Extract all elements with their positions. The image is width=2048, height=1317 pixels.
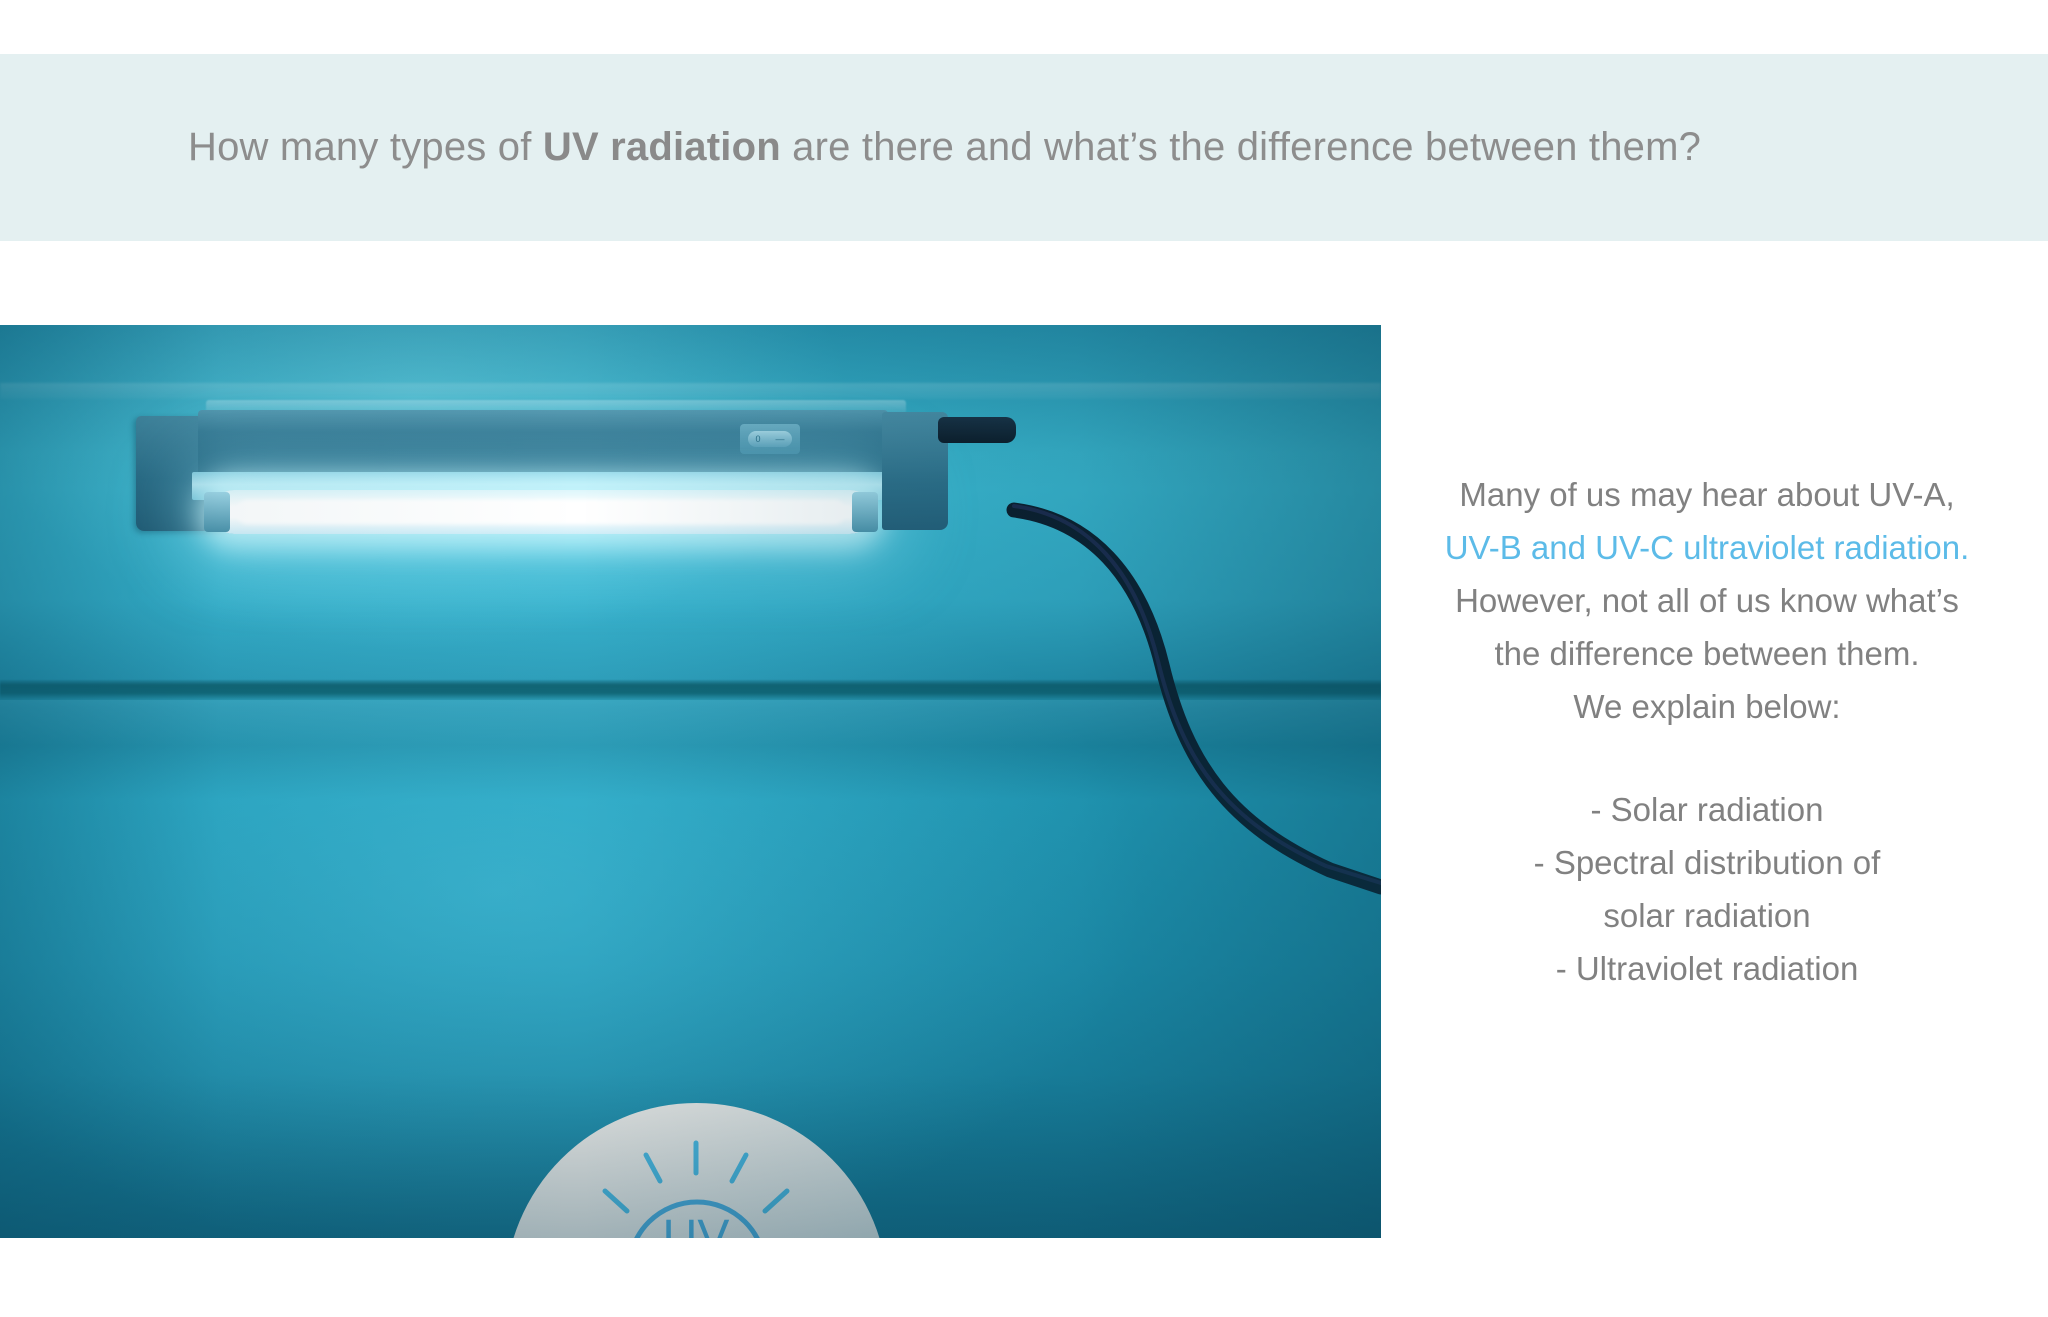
- list-item[interactable]: - Solar radiation: [1404, 783, 2010, 836]
- page-title-emphasis: UV radiation: [543, 125, 781, 169]
- list-item[interactable]: - Ultraviolet radiation: [1404, 942, 2010, 995]
- photo-vignette: [0, 325, 1381, 1238]
- intro-line-2-accent: UV-B and UV-C ultraviolet radiation.: [1445, 529, 1970, 566]
- intro-paragraph: Many of us may hear about UV-A, UV-B and…: [1404, 468, 2010, 733]
- intro-line-5: We explain below:: [1573, 688, 1840, 725]
- intro-line-4: the difference between them.: [1494, 635, 1919, 672]
- uv-lamp-photo: 0 — UV: [0, 325, 1381, 1238]
- header-band: How many types of UV radiation are there…: [0, 54, 2048, 241]
- topic-list: - Solar radiation - Spectral distributio…: [1404, 783, 2010, 995]
- list-item[interactable]: solar radiation: [1404, 889, 2010, 942]
- page-title-part-2: are there and what’s the difference betw…: [781, 125, 1701, 169]
- page-title-part-1: How many types of: [188, 125, 543, 169]
- article-text-column: Many of us may hear about UV-A, UV-B and…: [1404, 468, 2010, 995]
- intro-line-3: However, not all of us know what’s: [1455, 582, 1959, 619]
- list-item[interactable]: - Spectral distribution of: [1404, 836, 2010, 889]
- page-title: How many types of UV radiation are there…: [188, 125, 1701, 170]
- intro-line-1: Many of us may hear about UV-A,: [1459, 476, 1954, 513]
